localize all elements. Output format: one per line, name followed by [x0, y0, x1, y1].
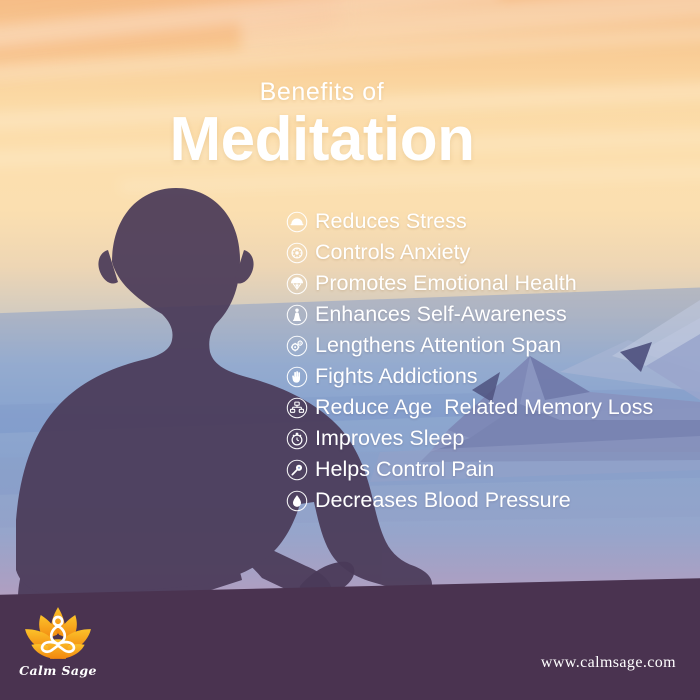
benefits-list: Reduces Stress Controls Anxiety: [286, 206, 686, 516]
website-url[interactable]: www.calmsage.com: [541, 654, 676, 672]
list-item-label: Fights Addictions: [315, 366, 478, 388]
cloud-sun-icon: [286, 211, 308, 233]
list-item: Lengthens Attention Span: [286, 330, 686, 361]
stop-hand-icon: [286, 366, 308, 388]
list-item-label: Promotes Emotional Health: [315, 273, 577, 295]
list-item-label: Decreases Blood Pressure: [315, 490, 571, 512]
brand-name: Calm Sage: [12, 663, 104, 678]
list-item-label: Helps Control Pain: [315, 459, 494, 481]
list-item-label: Lengthens Attention Span: [315, 335, 561, 357]
list-item: Helps Control Pain: [286, 454, 686, 485]
list-item: Controls Anxiety: [286, 237, 686, 268]
list-item: Fights Addictions: [286, 361, 686, 392]
list-item: Decreases Blood Pressure: [286, 485, 686, 516]
gears-icon: [286, 335, 308, 357]
alarm-clock-icon: [286, 428, 308, 450]
brand-logo[interactable]: Calm Sage: [12, 604, 104, 682]
lotus-meditation-logo: [18, 604, 98, 662]
footer-band: [0, 577, 700, 700]
list-item: Reduce Age Related Memory Loss: [286, 392, 686, 423]
list-item-label: Enhances Self-Awareness: [315, 304, 567, 326]
parachute-heart-icon: [286, 273, 308, 295]
water-drop-icon: [286, 490, 308, 512]
network-nodes-icon: [286, 397, 308, 419]
list-item-label: Reduces Stress: [315, 211, 467, 233]
brain-gear-icon: [286, 242, 308, 264]
list-item-label: Reduce Age Related Memory Loss: [315, 397, 653, 419]
meditation-benefits-poster: Benefits of Meditation: [0, 0, 700, 700]
list-item: Reduces Stress: [286, 206, 686, 237]
magnifier-pin-icon: [286, 459, 308, 481]
list-item-label: Improves Sleep: [315, 428, 464, 450]
list-item: Promotes Emotional Health: [286, 268, 686, 299]
list-item: Improves Sleep: [286, 423, 686, 454]
list-item: Enhances Self-Awareness: [286, 299, 686, 330]
person-badge-icon: [286, 304, 308, 326]
list-item-label: Controls Anxiety: [315, 242, 470, 264]
